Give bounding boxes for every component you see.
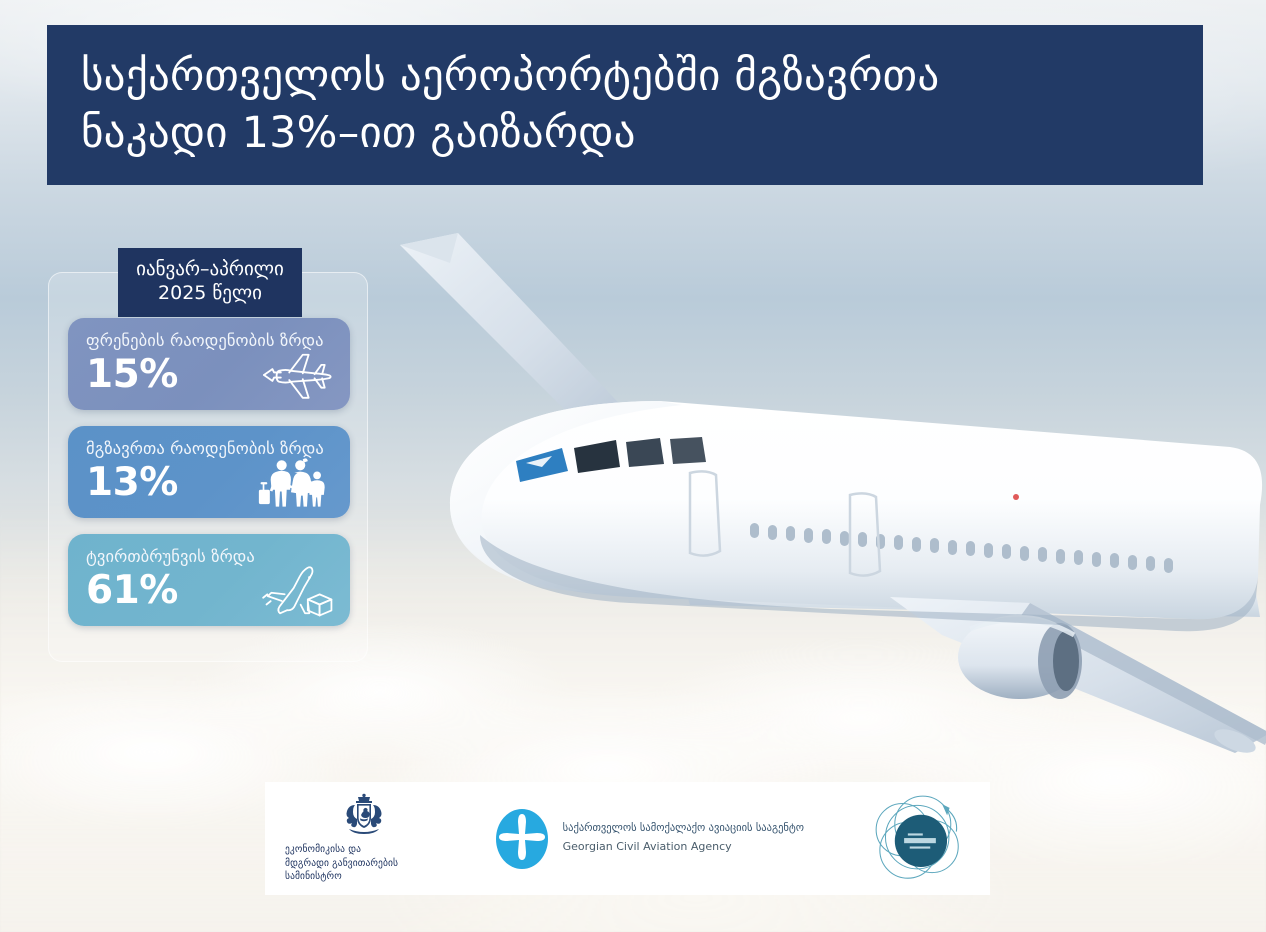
caa-name-en: Georgian Civil Aviation Agency bbox=[563, 839, 804, 856]
caa-name-ka: საქართველოს სამოქალაქო ავიაციის სააგენტო bbox=[563, 821, 804, 837]
stat-card-flights: ფრენების რაოდენობის ზრდა 15% bbox=[68, 318, 350, 410]
period-badge: იანვარ–აპრილი 2025 წელი bbox=[118, 248, 302, 317]
ministry-logo: ეკონომიკისა და მდგრადი განვითარების სამი… bbox=[265, 793, 444, 883]
stat-card-list: ფრენების რაოდენობის ზრდა 15% bbox=[68, 318, 350, 642]
caa-propeller-icon bbox=[494, 808, 550, 870]
title-banner: საქართველოს აეროპორტებში მგზავრთა ნაკადი… bbox=[47, 25, 1203, 185]
airplane-icon bbox=[255, 348, 337, 402]
page-title: საქართველოს აეროპორტებში მგზავრთა ნაკადი… bbox=[81, 48, 939, 162]
cargo-plane-icon bbox=[255, 564, 337, 618]
period-line-1: იანვარ–აპრილი bbox=[128, 257, 292, 281]
infographic-poster: საქართველოს აეროპორტებში მგზავრთა ნაკადი… bbox=[0, 0, 1266, 932]
stat-card-cargo: ტვირთბრუნვის ზრდა 61% bbox=[68, 534, 350, 626]
caa-logo: საქართველოს სამოქალაქო ავიაციის სააგენტო… bbox=[494, 808, 804, 870]
georgian-airports-union-icon bbox=[850, 789, 990, 889]
georgia-coat-of-arms-icon bbox=[337, 793, 391, 839]
footer-logo-bar: ეკონომიკისა და მდგრადი განვითარების სამი… bbox=[265, 782, 990, 895]
period-line-2: 2025 წელი bbox=[128, 281, 292, 305]
ministry-name: ეკონომიკისა და მდგრადი განვითარების სამი… bbox=[285, 843, 444, 883]
stat-card-passengers: მგზავრთა რაოდენობის ზრდა 13% bbox=[68, 426, 350, 518]
family-travelers-icon bbox=[255, 456, 337, 510]
airports-union-logo bbox=[850, 789, 990, 889]
caa-name-block: საქართველოს სამოქალაქო ავიაციის სააგენტო… bbox=[563, 821, 804, 855]
